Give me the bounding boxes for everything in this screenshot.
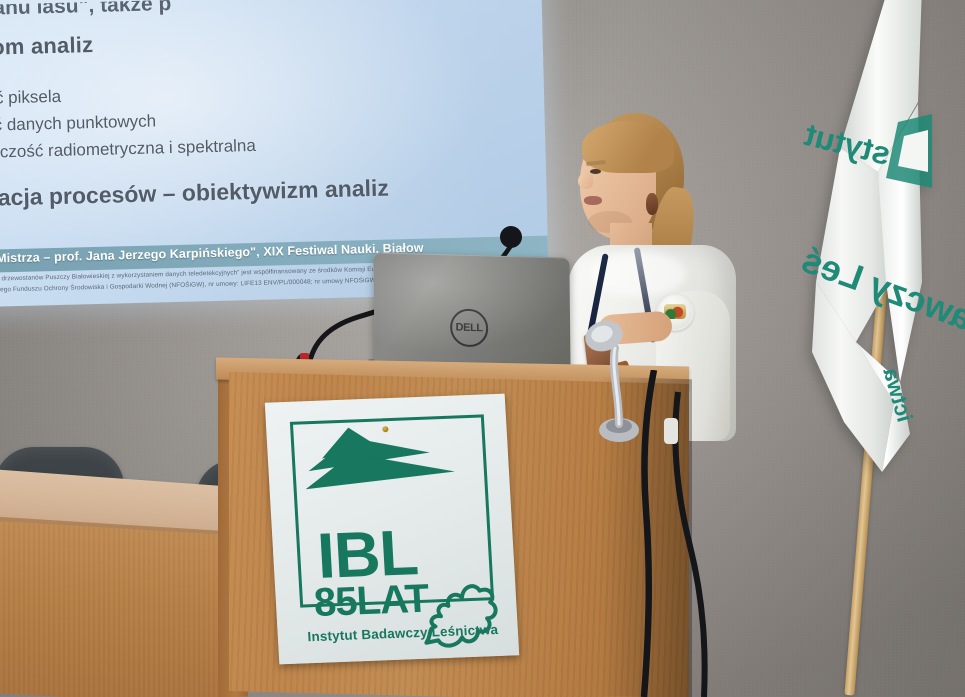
side-table-front	[0, 521, 238, 697]
slide-bullet-1: ość piksela	[0, 87, 61, 109]
nose	[578, 173, 593, 189]
eye	[590, 169, 601, 174]
ibl-logo-sign: IBL 85LAT Instytut Badawczy Leśnictwa	[265, 394, 519, 665]
pine-tree-icon	[300, 419, 464, 503]
photo-scene: stanu lasu", także p ziom analiz ość pik…	[0, 0, 965, 697]
sign-inner: IBL 85LAT Instytut Badawczy Leśnictwa	[265, 394, 519, 665]
earring	[646, 193, 658, 215]
ibl-letters: IBL	[316, 525, 419, 584]
slide-bullet-2: ość danych punktowych	[0, 111, 156, 136]
cable-right	[675, 392, 704, 697]
slide-bullet-3: zielczość radiometryczna i spektralna	[0, 136, 256, 163]
slide-cut-line: stanu lasu", także p	[0, 0, 172, 21]
microphone-far-capsule	[500, 226, 522, 248]
ibl-anniversary: 85LAT	[313, 577, 430, 626]
dell-logo: DELL	[450, 308, 488, 347]
cable-group	[620, 370, 750, 697]
hair-front	[582, 121, 674, 173]
cable-clip	[664, 418, 678, 444]
slide-heading-1: ziom analiz	[0, 32, 94, 61]
ibl-flag	[782, 0, 932, 502]
cable-left	[644, 370, 654, 697]
oak-leaf-icon	[415, 570, 503, 653]
mouth	[584, 196, 602, 205]
laptop-lid[interactable]: DELL	[373, 252, 570, 374]
